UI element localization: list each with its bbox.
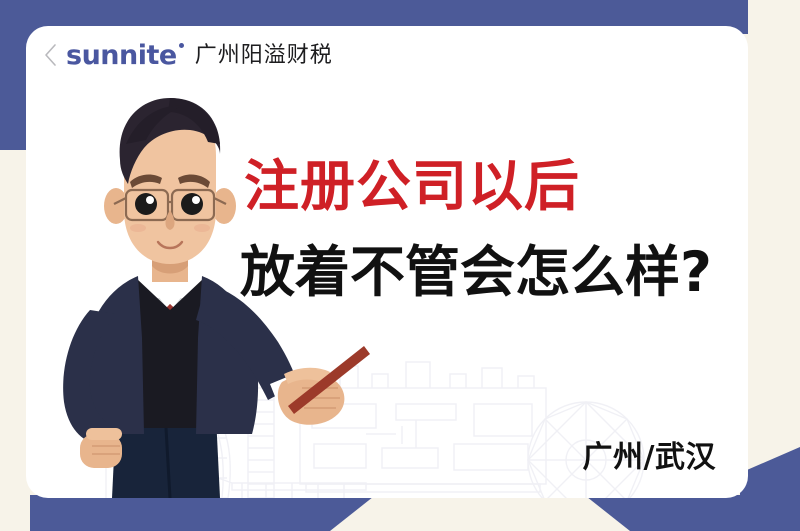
- cream-bottom-trapezoid: [330, 493, 630, 531]
- logo-dot-icon: [179, 43, 184, 48]
- headline-line-2: 放着不管会怎么样?: [240, 244, 742, 300]
- app-header: sunnite 广州阳溢财税: [26, 26, 748, 84]
- headline-block: 注册公司以后 放着不管会怎么样?: [222, 158, 742, 300]
- city-label: 广州/武汉: [583, 432, 716, 476]
- sunnite-logo[interactable]: sunnite: [66, 42, 177, 69]
- headline-line-1: 注册公司以后: [244, 158, 742, 214]
- brand-name-label: 广州阳溢财税: [195, 44, 333, 66]
- chevron-left-icon[interactable]: [42, 42, 60, 68]
- logo-wordmark: sunnite: [66, 42, 177, 69]
- poster-canvas: sunnite 广州阳溢财税: [0, 0, 800, 531]
- cream-right-block: [748, 0, 800, 470]
- poster-card: sunnite 广州阳溢财税: [26, 26, 748, 498]
